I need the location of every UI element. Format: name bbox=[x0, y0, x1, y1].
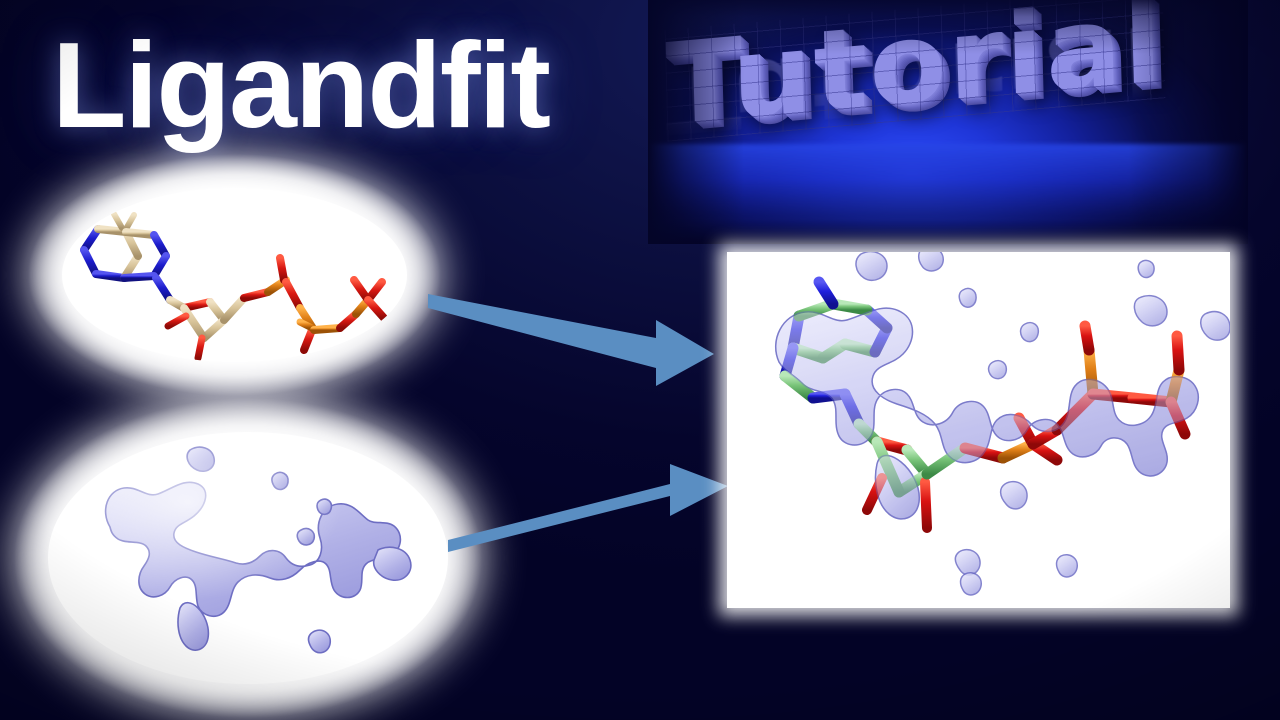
atp-stick-model-tan bbox=[62, 188, 407, 362]
ligand-panel-clip bbox=[62, 188, 407, 362]
fitted-result-panel bbox=[727, 252, 1230, 608]
tutorial-reflective-floor bbox=[648, 144, 1248, 244]
page-title: Ligandfit bbox=[52, 24, 549, 146]
arrow-density-to-result bbox=[444, 452, 734, 562]
electron-density-surface-blob bbox=[48, 432, 448, 684]
slide-stage: Tutorial Tutorial Ligandfit bbox=[0, 0, 1280, 720]
atp-fitted-in-density bbox=[727, 252, 1230, 608]
density-panel-clip bbox=[48, 432, 448, 684]
arrow-ligand-to-result bbox=[424, 282, 724, 392]
tutorial-3d-artwork: Tutorial Tutorial bbox=[648, 0, 1248, 244]
ligand-model-panel bbox=[62, 188, 407, 362]
density-map-panel bbox=[48, 432, 448, 684]
